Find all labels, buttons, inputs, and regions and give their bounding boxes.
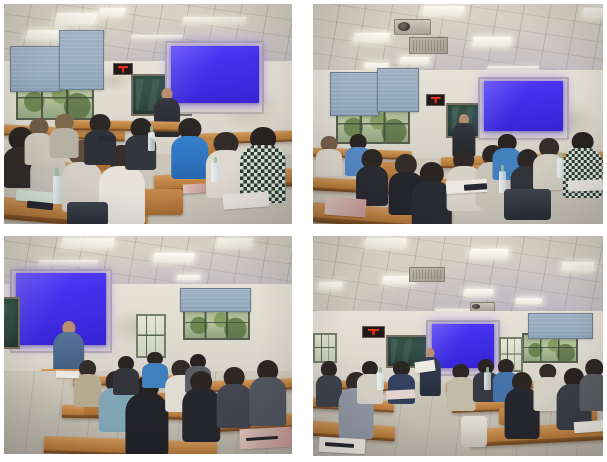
student xyxy=(580,359,603,407)
ceiling-light-strip xyxy=(130,35,182,39)
ceiling-projector xyxy=(394,19,431,34)
ceiling-light xyxy=(469,249,508,258)
student xyxy=(249,360,286,421)
photo-top-left[interactable] xyxy=(4,4,292,224)
projection-screen[interactable] xyxy=(484,81,563,131)
student xyxy=(217,367,252,424)
air-conditioner-vent xyxy=(409,37,449,54)
student xyxy=(73,360,102,404)
paper-sheet xyxy=(222,192,269,211)
student xyxy=(50,114,79,156)
student xyxy=(446,364,475,408)
ceiling-light-strip xyxy=(38,260,97,265)
air-conditioner-vent xyxy=(409,267,446,282)
ceiling-light xyxy=(61,238,115,247)
backpack xyxy=(67,202,107,224)
projection-screen[interactable] xyxy=(171,46,259,103)
water-bottle xyxy=(148,132,155,152)
ceiling-light xyxy=(516,298,543,304)
ceiling-light xyxy=(318,282,343,289)
student xyxy=(113,356,139,393)
ceiling-light xyxy=(463,289,493,296)
student xyxy=(171,118,208,175)
window-blind xyxy=(528,313,594,339)
paper-sheet xyxy=(574,420,603,433)
ceiling-light xyxy=(422,6,464,15)
ceiling-light xyxy=(98,8,126,16)
window-blind xyxy=(10,46,61,92)
photo-bottom-left[interactable] xyxy=(4,236,292,454)
ceiling-light xyxy=(216,238,252,247)
paper-sheet xyxy=(568,179,603,191)
window-blind xyxy=(377,68,420,112)
window-blind xyxy=(180,288,251,312)
ceiling-light xyxy=(352,33,389,42)
backpack xyxy=(504,189,550,220)
water-bottle xyxy=(53,176,62,205)
paper-sheet xyxy=(182,184,205,194)
bag xyxy=(461,416,487,447)
water-bottle xyxy=(484,372,491,390)
water-bottle xyxy=(211,162,219,182)
photo-bottom-right[interactable] xyxy=(313,236,603,456)
student xyxy=(24,118,53,162)
student xyxy=(316,361,342,403)
chalkboard xyxy=(4,297,20,349)
water-bottle xyxy=(557,158,565,178)
ceiling-light xyxy=(153,253,195,262)
photo-top-right[interactable] xyxy=(313,4,603,224)
window-blind xyxy=(59,30,104,89)
student xyxy=(142,352,168,387)
ceiling-light xyxy=(582,8,603,17)
ceiling-light xyxy=(364,238,406,247)
ceiling-light xyxy=(562,262,595,271)
led-sign xyxy=(362,326,384,338)
ceiling-light xyxy=(26,30,63,39)
ceiling-light xyxy=(472,37,511,46)
photo-collage: Lecture hall seen from the back rows: a … xyxy=(0,0,607,462)
paper-sheet xyxy=(56,371,79,378)
water-bottle xyxy=(377,372,384,390)
ceiling-light xyxy=(176,275,200,280)
window-blind xyxy=(330,72,378,116)
ceiling-light xyxy=(54,13,97,24)
leaflet xyxy=(324,196,366,216)
student xyxy=(183,371,220,436)
student xyxy=(357,149,389,202)
paper-sheet xyxy=(385,389,414,399)
classroom-window xyxy=(313,333,337,363)
student xyxy=(240,127,286,197)
student xyxy=(316,136,342,173)
ceiling-light xyxy=(399,57,429,64)
ceiling-light-strip xyxy=(182,17,247,24)
led-sign xyxy=(426,94,445,106)
